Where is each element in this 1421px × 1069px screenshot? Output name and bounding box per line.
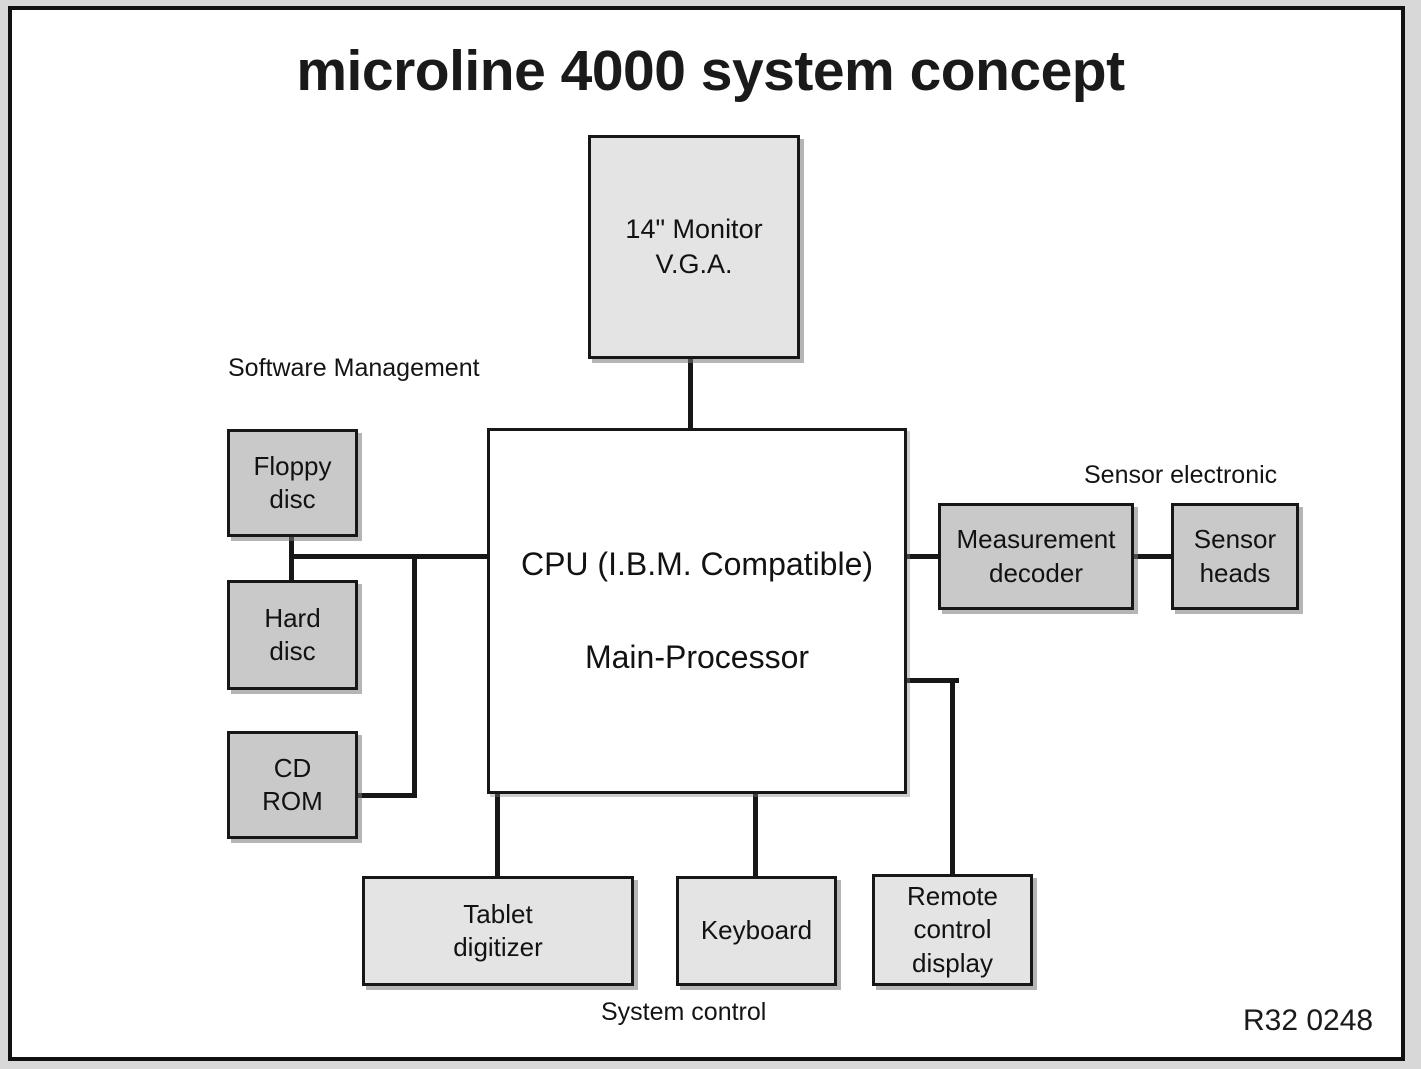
node-tablet-digitizer-line2: digitizer (453, 931, 543, 964)
node-sensor-heads-line2: heads (1200, 557, 1271, 590)
node-sensor-heads-line1: Sensor (1194, 523, 1276, 556)
connector-cpu-to-remote-vertical (950, 678, 955, 878)
group-label-software-management: Software Management (228, 352, 480, 386)
node-hard-disc-line2: disc (269, 635, 315, 668)
node-tablet-digitizer[interactable]: Tablet digitizer (362, 876, 634, 986)
connector-decoder-to-sensorheads (1131, 554, 1175, 559)
connector-cpu-to-decoder (903, 554, 943, 559)
node-measurement-decoder-line1: Measurement (957, 523, 1116, 556)
node-floppy-disc-line2: disc (269, 483, 315, 516)
group-label-system-control-text: System control (601, 998, 766, 1026)
node-cpu-line2: Main-Processor (585, 637, 809, 678)
node-keyboard[interactable]: Keyboard (676, 876, 837, 986)
group-label-system-control: System control (601, 996, 766, 1030)
connector-cpu-to-keyboard (753, 790, 758, 880)
node-remote-control-display-line3: display (912, 947, 993, 980)
node-cd-rom-line1: CD (274, 752, 312, 785)
node-cd-rom-line2: ROM (262, 785, 323, 818)
node-measurement-decoder-line2: decoder (989, 557, 1083, 590)
page-title: microline 4000 system concept (0, 38, 1421, 104)
connector-cdrom-horizontal (356, 793, 417, 798)
node-hard-disc-line1: Hard (264, 602, 320, 635)
node-hard-disc[interactable]: Hard disc (227, 580, 358, 690)
node-floppy-disc-line1: Floppy (253, 450, 331, 483)
diagram-canvas: microline 4000 system concept 14" Monito… (0, 0, 1421, 1069)
node-monitor-line2: V.G.A. (655, 247, 732, 282)
group-label-sensor-electronic-text: Sensor electronic (1084, 461, 1277, 489)
node-cd-rom[interactable]: CD ROM (227, 731, 358, 839)
node-sensor-heads[interactable]: Sensor heads (1171, 503, 1299, 610)
node-remote-control-display[interactable]: Remote control display (872, 874, 1033, 986)
node-cpu-line1: CPU (I.B.M. Compatible) (521, 544, 873, 585)
group-label-software-management-line1: Software (228, 354, 327, 382)
connector-cpu-to-tablet (495, 790, 500, 880)
connector-storage-bus (289, 554, 491, 559)
node-floppy-disc[interactable]: Floppy disc (227, 429, 358, 537)
node-measurement-decoder[interactable]: Measurement decoder (938, 503, 1134, 610)
reference-code: R32 0248 (1243, 1004, 1373, 1038)
node-monitor-line1: 14" Monitor (625, 212, 762, 247)
node-remote-control-display-line1: Remote (907, 880, 998, 913)
connector-cdrom-riser (412, 554, 417, 797)
diagram-page: microline 4000 system concept 14" Monito… (0, 0, 1421, 1069)
group-label-software-management-line2: Management (334, 354, 480, 382)
node-cpu[interactable]: CPU (I.B.M. Compatible) Main-Processor (487, 428, 907, 794)
connector-monitor-to-cpu (688, 356, 693, 434)
node-tablet-digitizer-line1: Tablet (463, 898, 532, 931)
group-label-sensor-electronic: Sensor electronic (1084, 459, 1277, 493)
node-monitor[interactable]: 14" Monitor V.G.A. (588, 135, 800, 359)
node-keyboard-line1: Keyboard (701, 914, 812, 947)
node-remote-control-display-line2: control (913, 913, 991, 946)
